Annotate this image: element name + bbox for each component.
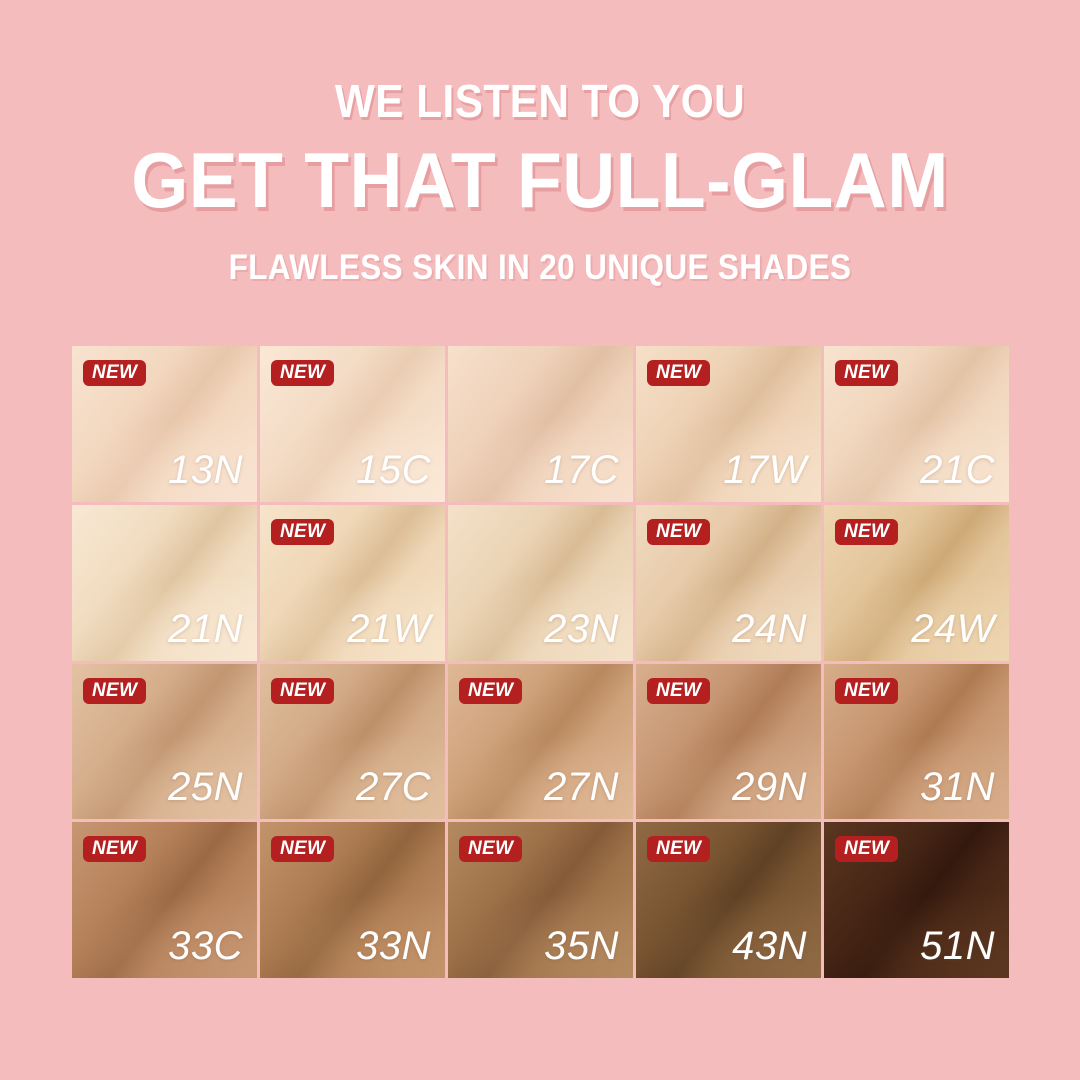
new-badge: NEW <box>647 836 710 862</box>
new-badge: NEW <box>647 519 710 545</box>
shade-code-label: 21C <box>920 450 995 490</box>
new-badge: NEW <box>459 678 522 704</box>
shade-swatch[interactable]: NEW31N <box>824 664 1009 820</box>
shade-code-label: 33N <box>356 926 431 966</box>
shade-code-label: 27N <box>544 767 619 807</box>
shade-code-label: 17W <box>723 450 807 490</box>
header-block: WE LISTEN TO YOU GET THAT FULL-GLAM FLAW… <box>0 78 1080 285</box>
shade-swatch[interactable]: NEW24W <box>824 505 1009 661</box>
shade-swatch[interactable]: NEW29N <box>636 664 821 820</box>
shade-code-label: 17C <box>544 450 619 490</box>
shade-swatch[interactable]: NEW24N <box>636 505 821 661</box>
shade-swatch[interactable]: NEW33C <box>72 822 257 978</box>
shade-code-label: 23N <box>544 609 619 649</box>
shade-swatch[interactable]: NEW27N <box>448 664 633 820</box>
shade-swatch[interactable]: NEW43N <box>636 822 821 978</box>
new-badge: NEW <box>83 678 146 704</box>
shade-swatch[interactable]: NEW13N <box>72 346 257 502</box>
shade-code-label: 24N <box>732 609 807 649</box>
new-badge: NEW <box>459 836 522 862</box>
shade-code-label: 25N <box>168 767 243 807</box>
shade-swatch[interactable]: NEW15C <box>260 346 445 502</box>
new-badge: NEW <box>83 360 146 386</box>
shade-code-label: 35N <box>544 926 619 966</box>
new-badge: NEW <box>647 360 710 386</box>
new-badge: NEW <box>271 836 334 862</box>
shade-code-label: 21N <box>168 609 243 649</box>
shade-code-label: 29N <box>732 767 807 807</box>
shade-swatch[interactable]: 23N <box>448 505 633 661</box>
shade-code-label: 24W <box>911 609 995 649</box>
page-title: GET THAT FULL-GLAM <box>32 140 1047 222</box>
new-badge: NEW <box>835 836 898 862</box>
shade-code-label: 15C <box>356 450 431 490</box>
shade-code-label: 33C <box>168 926 243 966</box>
eyebrow-text: WE LISTEN TO YOU <box>43 78 1037 124</box>
new-badge: NEW <box>83 836 146 862</box>
shade-code-label: 13N <box>168 450 243 490</box>
new-badge: NEW <box>835 678 898 704</box>
new-badge: NEW <box>835 519 898 545</box>
shade-swatch[interactable]: NEW17W <box>636 346 821 502</box>
new-badge: NEW <box>271 360 334 386</box>
subtitle-text: FLAWLESS SKIN IN 20 UNIQUE SHADES <box>54 250 1026 285</box>
shade-code-label: 31N <box>920 767 995 807</box>
shade-swatch[interactable]: NEW33N <box>260 822 445 978</box>
shade-code-label: 43N <box>732 926 807 966</box>
shade-code-label: 51N <box>920 926 995 966</box>
shade-grid: NEW13NNEW15C17CNEW17WNEW21C21NNEW21W23NN… <box>72 346 1009 978</box>
shade-swatch[interactable]: NEW25N <box>72 664 257 820</box>
shade-swatch[interactable]: 21N <box>72 505 257 661</box>
new-badge: NEW <box>271 678 334 704</box>
shade-code-label: 21W <box>347 609 431 649</box>
shade-swatch[interactable]: NEW35N <box>448 822 633 978</box>
new-badge: NEW <box>647 678 710 704</box>
promo-banner: WE LISTEN TO YOU GET THAT FULL-GLAM FLAW… <box>0 0 1080 1080</box>
shade-code-label: 27C <box>356 767 431 807</box>
shade-swatch[interactable]: NEW27C <box>260 664 445 820</box>
shade-swatch[interactable]: 17C <box>448 346 633 502</box>
new-badge: NEW <box>835 360 898 386</box>
shade-swatch[interactable]: NEW21C <box>824 346 1009 502</box>
new-badge: NEW <box>271 519 334 545</box>
shade-swatch[interactable]: NEW51N <box>824 822 1009 978</box>
shade-swatch[interactable]: NEW21W <box>260 505 445 661</box>
